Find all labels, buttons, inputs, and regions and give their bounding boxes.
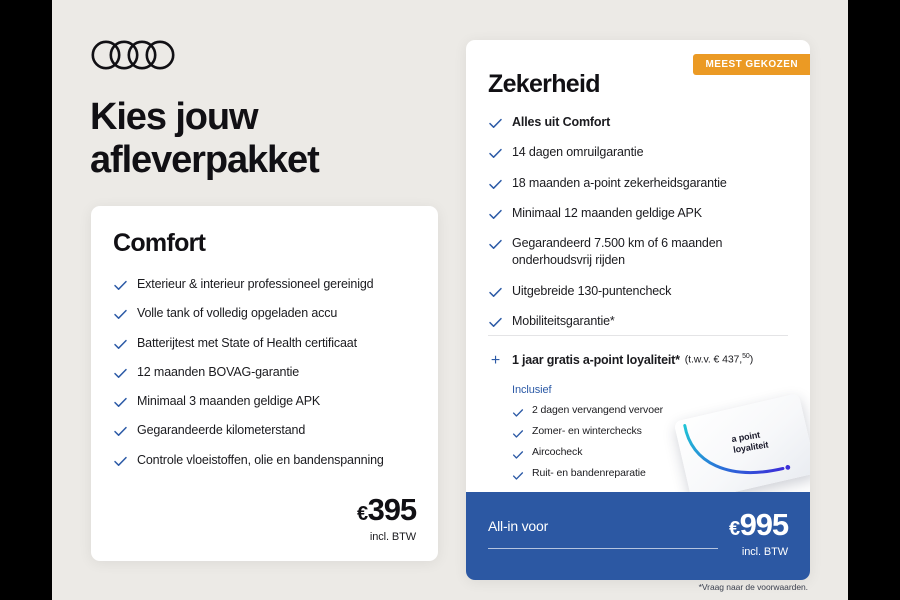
loyalty-highlight-row: + 1 jaar gratis a-point loyaliteit* (t.w… xyxy=(488,353,794,369)
list-item: Alles uit Comfort xyxy=(488,114,794,131)
list-item: 18 maanden a-point zekerheidsgarantie xyxy=(488,175,794,192)
check-icon xyxy=(488,237,503,252)
check-icon xyxy=(113,424,128,439)
page-content: Kies jouw afleverpakket Comfort Exterieu… xyxy=(52,0,848,600)
allin-label: All-in voor xyxy=(488,518,548,534)
list-item-label: Gegarandeerd 7.500 km of 6 maanden onder… xyxy=(512,235,794,270)
check-icon xyxy=(113,307,128,322)
check-icon xyxy=(512,406,524,418)
currency-symbol: € xyxy=(357,503,368,525)
zekerheid-price-amount: 995 xyxy=(740,507,788,542)
list-item-label: 18 maanden a-point zekerheidsgarantie xyxy=(512,175,727,192)
check-icon xyxy=(512,469,524,481)
list-item-label: Uitgebreide 130-puntencheck xyxy=(512,283,671,300)
list-item: Mobiliteitsgarantie* xyxy=(488,313,794,330)
list-item-label: Zomer- en winterchecks xyxy=(532,425,642,439)
package-card-comfort[interactable]: Comfort Exterieur & interieur profession… xyxy=(91,206,438,561)
list-item-label: Volle tank of volledig opgeladen accu xyxy=(137,305,337,322)
loyalty-highlight-label: 1 jaar gratis a-point loyaliteit* xyxy=(512,353,680,367)
footnote: *Vraag naar de voorwaarden. xyxy=(699,582,808,592)
zekerheid-price-block: €995 incl. BTW xyxy=(729,509,788,558)
comfort-price-block: €395 incl. BTW xyxy=(357,494,416,543)
check-icon xyxy=(488,177,503,192)
audi-four-rings-logo xyxy=(91,40,187,70)
comfort-price-note: incl. BTW xyxy=(357,531,416,543)
list-item: Exterieur & interieur professioneel gere… xyxy=(113,276,422,293)
check-icon xyxy=(113,337,128,352)
list-item-label: Minimaal 3 maanden geldige APK xyxy=(137,393,320,410)
list-item-label: Exterieur & interieur professioneel gere… xyxy=(137,276,373,293)
inclusief-label: Inclusief xyxy=(512,384,551,396)
list-item: Batterijtest met State of Health certifi… xyxy=(113,335,422,352)
list-item-label: Mobiliteitsgarantie* xyxy=(512,313,615,330)
comfort-price-amount: 395 xyxy=(368,492,416,527)
list-item-label: 2 dagen vervangend vervoer xyxy=(532,404,663,418)
check-icon xyxy=(488,116,503,131)
list-item-label: Ruit- en bandenreparatie xyxy=(532,467,646,481)
page-title-line2: afleverpakket xyxy=(90,139,420,182)
list-item-label: Minimaal 12 maanden geldige APK xyxy=(512,205,702,222)
list-item: Gegarandeerde kilometerstand xyxy=(113,422,422,439)
zekerheid-title: Zekerheid xyxy=(488,70,600,99)
plus-icon: + xyxy=(488,354,503,369)
check-icon xyxy=(512,427,524,439)
comfort-price: €395 xyxy=(357,494,416,525)
currency-symbol: € xyxy=(729,518,740,540)
list-item: 12 maanden BOVAG-garantie xyxy=(113,364,422,381)
page-title-line1: Kies jouw xyxy=(90,96,420,139)
list-item: Uitgebreide 130-puntencheck xyxy=(488,283,794,300)
comfort-feature-list: Exterieur & interieur professioneel gere… xyxy=(113,276,422,481)
list-item: 14 dagen omruilgarantie xyxy=(488,144,794,161)
list-item-label: Batterijtest met State of Health certifi… xyxy=(137,335,357,352)
list-item-label: 14 dagen omruilgarantie xyxy=(512,144,643,161)
comfort-title: Comfort xyxy=(113,229,205,258)
zekerheid-feature-list: Alles uit Comfort 14 dagen omruilgaranti… xyxy=(488,114,794,343)
zekerheid-price-note: incl. BTW xyxy=(729,546,788,558)
check-icon xyxy=(113,454,128,469)
section-divider xyxy=(488,335,788,336)
list-item-label: Controle vloeistoffen, olie en bandenspa… xyxy=(137,452,384,469)
list-item: Minimaal 3 maanden geldige APK xyxy=(113,393,422,410)
list-item-label: Aircocheck xyxy=(532,446,582,460)
list-item: Gegarandeerd 7.500 km of 6 maanden onder… xyxy=(488,235,794,270)
loyalty-card-graphic: a point loyaliteit xyxy=(674,393,810,502)
check-icon xyxy=(488,146,503,161)
check-icon xyxy=(113,366,128,381)
check-icon xyxy=(113,395,128,410)
check-icon xyxy=(488,207,503,222)
list-item-label: 12 maanden BOVAG-garantie xyxy=(137,364,299,381)
status-badge: MEEST GEKOZEN xyxy=(693,54,810,75)
check-icon xyxy=(488,285,503,300)
loyalty-value-suffix: ) xyxy=(750,354,753,366)
page-title: Kies jouw afleverpakket xyxy=(90,96,420,181)
check-icon xyxy=(512,448,524,460)
package-card-zekerheid[interactable]: MEEST GEKOZEN Zekerheid Alles uit Comfor… xyxy=(466,40,810,580)
check-icon xyxy=(488,315,503,330)
list-item: Controle vloeistoffen, olie en bandenspa… xyxy=(113,452,422,469)
list-item-label: Alles uit Comfort xyxy=(512,114,610,131)
list-item: Volle tank of volledig opgeladen accu xyxy=(113,305,422,322)
loyalty-value-note: (t.w.v. € 437,50) xyxy=(685,353,753,366)
zekerheid-price-footer: All-in voor €995 incl. BTW xyxy=(466,492,810,580)
footer-underline xyxy=(488,548,718,549)
list-item: Minimaal 12 maanden geldige APK xyxy=(488,205,794,222)
check-icon xyxy=(113,278,128,293)
loyalty-value-prefix: (t.w.v. € 437, xyxy=(685,354,742,366)
list-item-label: Gegarandeerde kilometerstand xyxy=(137,422,305,439)
loyalty-value-cents: 50 xyxy=(742,353,750,360)
screenshot-stage: Kies jouw afleverpakket Comfort Exterieu… xyxy=(0,0,900,600)
zekerheid-price: €995 xyxy=(729,509,788,540)
